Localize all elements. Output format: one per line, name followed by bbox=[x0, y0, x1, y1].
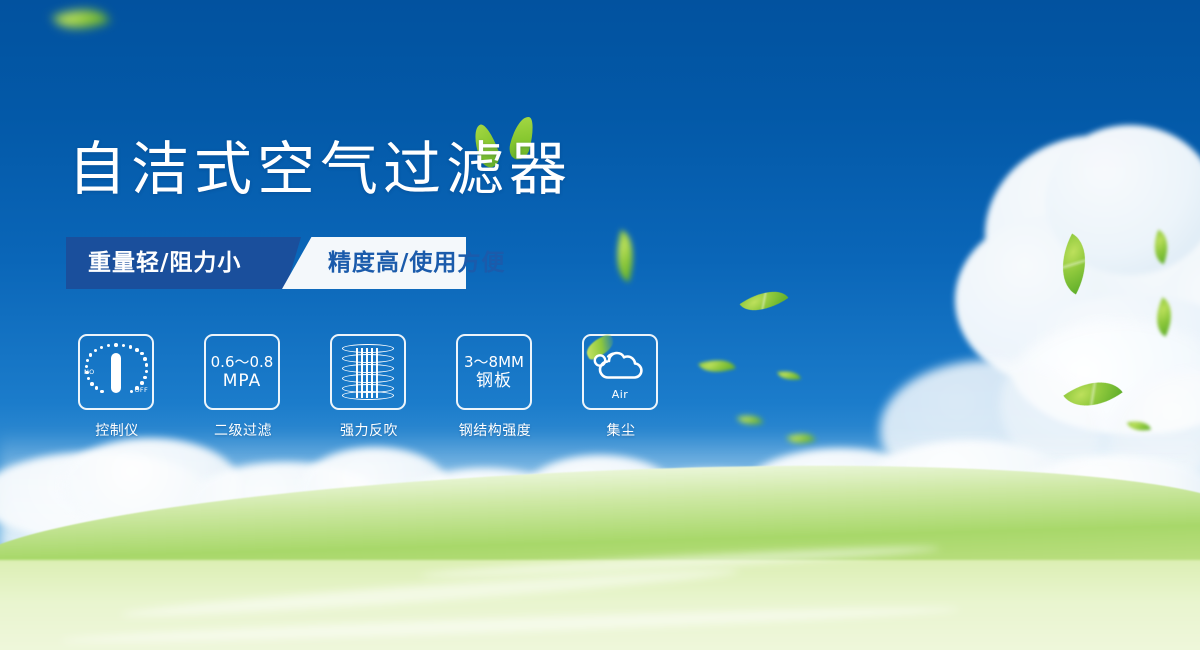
steel-thickness: 3～8MM bbox=[464, 353, 524, 372]
leaf-mid-1 bbox=[608, 230, 642, 282]
leaf-mid-2 bbox=[740, 280, 789, 323]
feature-badge-box bbox=[330, 334, 406, 410]
pressure-value: 0.6～0.8 bbox=[211, 353, 274, 372]
feature-badge-box: NO OFF bbox=[78, 334, 154, 410]
cloud-air-caption: Air bbox=[589, 388, 651, 401]
subtitle-bar: 重量轻/阻力小 精度高/使用方便 bbox=[66, 237, 466, 289]
pressure-unit: MPA bbox=[211, 372, 274, 391]
feature-label: 二级过滤 bbox=[204, 420, 282, 440]
cloud-air-icon: Air bbox=[589, 347, 651, 397]
subtitle-left-text: 重量轻/阻力小 bbox=[88, 237, 241, 289]
feature-label: 强力反吹 bbox=[330, 420, 408, 440]
product-hero-banner: 自洁式空气过滤器 重量轻/阻力小 精度高/使用方便 bbox=[0, 0, 1200, 650]
feature-item-steel-strength[interactable]: 3～8MM 钢板 钢结构强度 bbox=[456, 334, 534, 440]
leaf-mid-4 bbox=[777, 368, 801, 383]
filter-cartridge-icon bbox=[342, 344, 394, 400]
feature-label: 钢结构强度 bbox=[456, 420, 534, 440]
pressure-text-icon: 0.6～0.8 MPA bbox=[211, 353, 274, 391]
leaf-top-left bbox=[52, 0, 110, 41]
feature-badge-box: Air bbox=[582, 334, 658, 410]
feature-badge-box: 0.6～0.8 MPA bbox=[204, 334, 280, 410]
subtitle-right-text: 精度高/使用方便 bbox=[328, 237, 505, 289]
dial-label-no: NO bbox=[84, 368, 95, 376]
dial-gauge-icon: NO OFF bbox=[85, 341, 147, 403]
leaf-mid-5 bbox=[737, 411, 763, 428]
feature-item-dust-collection[interactable]: Air 集尘 bbox=[582, 334, 660, 440]
feature-item-back-blow[interactable]: 强力反吹 bbox=[330, 334, 408, 440]
feature-item-two-stage-filter[interactable]: 0.6～0.8 MPA 二级过滤 bbox=[204, 334, 282, 440]
feature-item-controller[interactable]: NO OFF 控制仪 bbox=[78, 334, 156, 440]
dial-label-off: OFF bbox=[135, 386, 149, 394]
feature-badge-box: 3～8MM 钢板 bbox=[456, 334, 532, 410]
page-title: 自洁式空气过滤器 bbox=[68, 140, 572, 198]
feature-label: 控制仪 bbox=[78, 420, 156, 440]
feature-label: 集尘 bbox=[582, 420, 660, 440]
steel-plate-text-icon: 3～8MM 钢板 bbox=[464, 353, 524, 391]
feature-badge-list: NO OFF 控制仪 0.6～0.8 MPA 二级过滤 bbox=[78, 334, 738, 444]
dial-needle bbox=[111, 353, 121, 393]
steel-material: 钢板 bbox=[464, 372, 524, 391]
